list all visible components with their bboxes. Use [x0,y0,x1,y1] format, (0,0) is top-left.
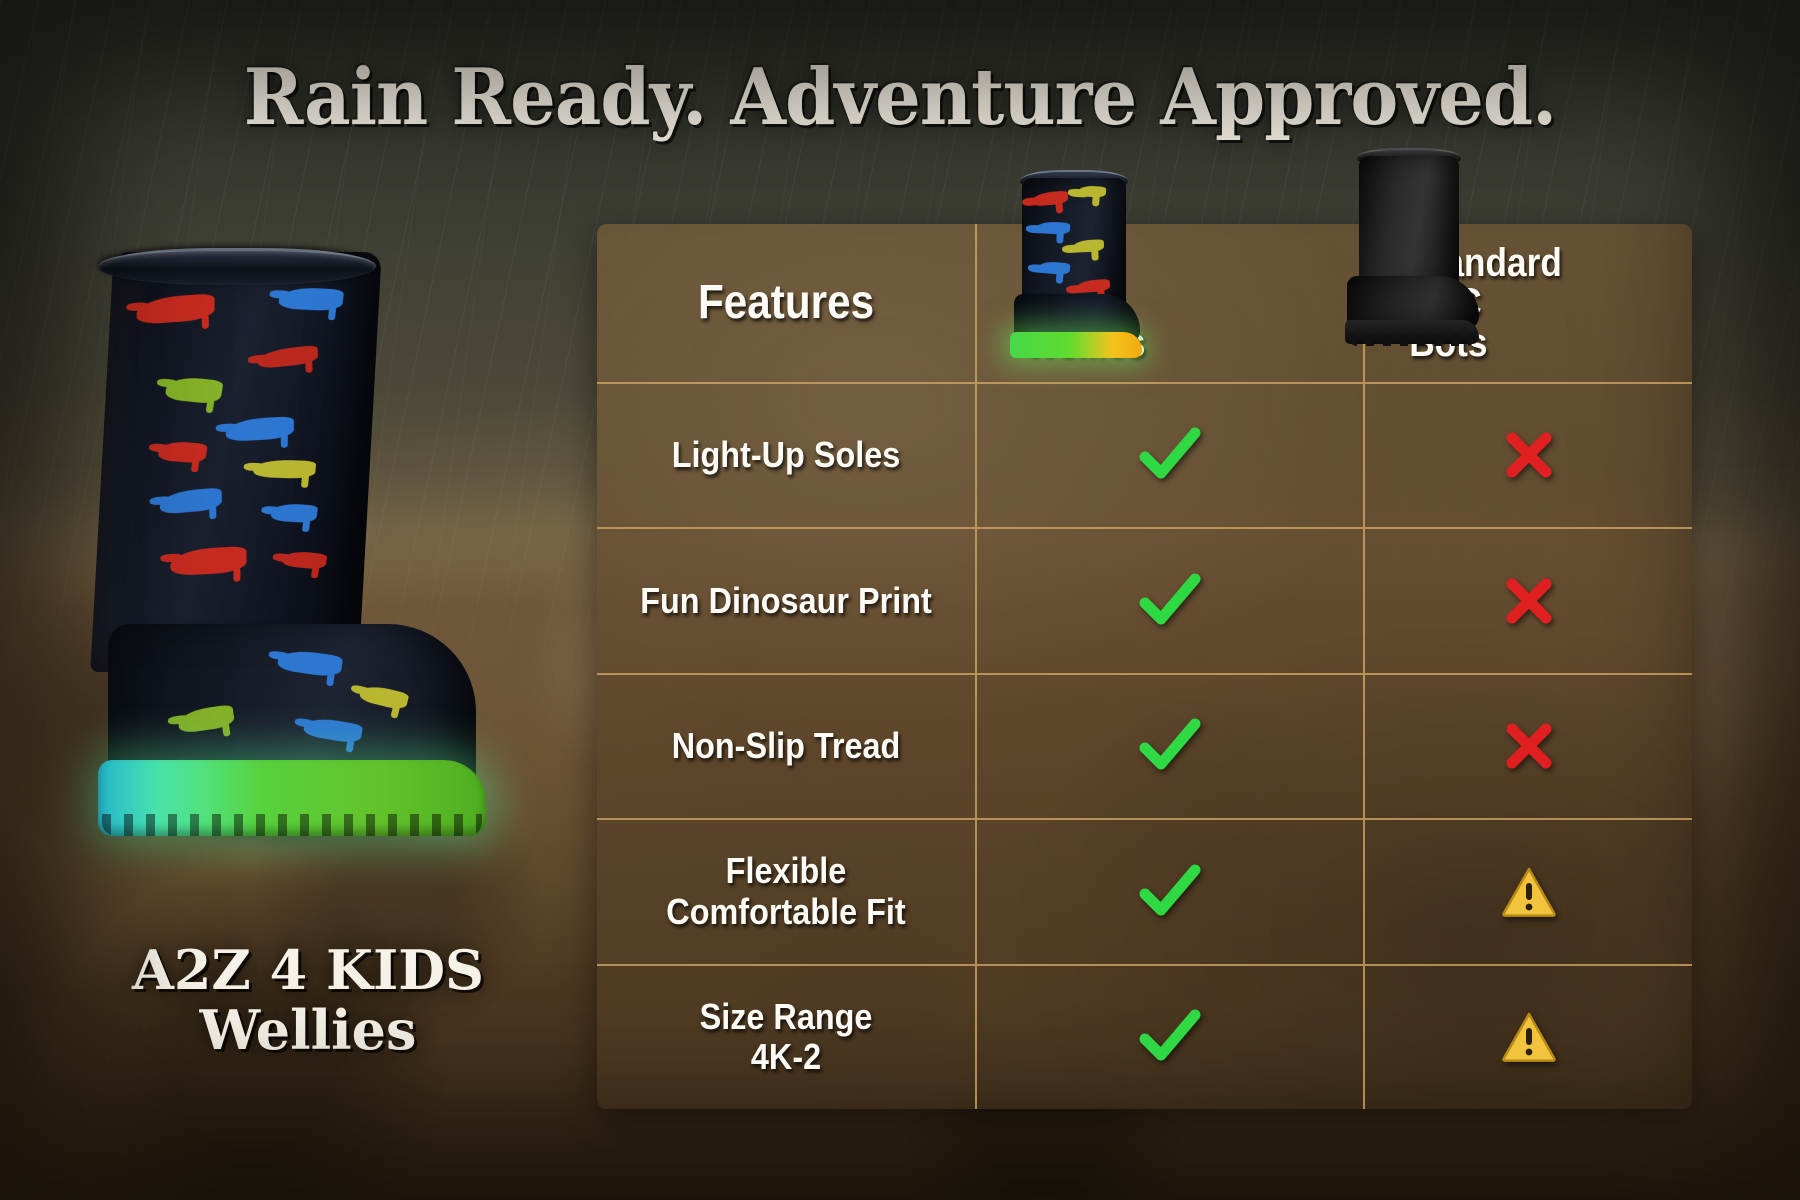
row-a2z-cell [977,529,1365,672]
hero-boot-light-up-sole [98,760,486,836]
row-feature-cell: Light-Up Soles [597,384,977,527]
dino-print-blue-6 [303,715,364,745]
a2z-boot-thumbnail [1000,172,1150,357]
feature-label: Fun Dinosaur Print [640,581,932,621]
dino-print-green-2 [177,704,236,734]
warning-icon [1501,1011,1557,1063]
check-icon [1139,1008,1201,1066]
feature-label-line-1: Non-Slip Tread [672,726,901,766]
dino-print-blue-2 [226,416,294,442]
dino-print-red-1 [136,293,214,324]
feature-label-line-1: Flexible [666,851,905,891]
pvc-thumb-tread-lugs [1349,334,1475,346]
dino-print-blue-1 [1036,221,1071,235]
table-row: Size Range 4K-2 [597,966,1692,1109]
hero-boot-shaft [90,252,381,672]
check-icon [1139,863,1201,921]
dino-print-yellow-2 [1072,239,1105,253]
dino-print-blue-2 [1038,261,1071,276]
check-icon [1139,572,1201,630]
row-a2z-cell [977,675,1365,818]
dino-print-red-3 [157,440,207,464]
table-row: Fun Dinosaur Print [597,529,1692,674]
a2z-thumb-shaft [1022,178,1126,308]
dino-print-red-5 [281,550,327,571]
row-pvc-cell [1365,384,1692,527]
pvc-thumb-shaft [1359,156,1459,288]
promo-scene: Rain Ready. Adventure Approved. A2 [0,0,1800,1200]
dino-print-red-2 [1076,279,1111,293]
check-icon [1139,426,1201,484]
feature-label-line-1: Light-Up Soles [672,435,901,475]
feature-label: Light-Up Soles [672,435,901,475]
header-label-features: Features [698,279,874,327]
page-title: Rain Ready. Adventure Approved. [72,52,1728,143]
row-a2z-cell [977,966,1365,1109]
dino-print-red-2 [257,345,318,369]
feature-label-line-2: Comfortable Fit [666,892,905,932]
cross-icon [1503,429,1555,481]
dino-print-yellow-1 [1078,185,1107,198]
row-feature-cell: Non-Slip Tread [597,675,977,818]
table-row: Non-Slip Tread [597,675,1692,820]
row-pvc-cell [1365,820,1692,963]
feature-label-line-2: 4K-2 [700,1037,873,1077]
dino-print-red-1 [1032,190,1069,206]
feature-label: Flexible Comfortable Fit [666,851,905,932]
cross-icon [1503,575,1555,627]
table-row: Flexible Comfortable Fit [597,820,1692,965]
feature-label: Size Range 4K-2 [700,997,873,1078]
feature-label-line-1: Fun Dinosaur Print [640,581,932,621]
header-cell-features: Features [597,224,977,382]
dino-print-red-4 [170,546,246,576]
feature-label-line-1: Size Range [700,997,873,1037]
row-a2z-cell [977,384,1365,527]
dino-print-blue-1 [278,286,344,311]
row-feature-cell: Fun Dinosaur Print [597,529,977,672]
row-feature-cell: Size Range 4K-2 [597,966,977,1109]
dino-print-yellow-1 [253,459,316,479]
product-caption: A2Z 4 KIDS Wellies [48,940,568,1061]
product-caption-line-2: Wellies [48,1000,568,1060]
cross-icon [1503,720,1555,772]
feature-label: Non-Slip Tread [672,726,901,766]
dino-print-green-1 [164,375,223,405]
dino-print-yellow-2 [359,682,410,711]
row-pvc-cell [1365,966,1692,1109]
a2z-thumb-light-up-sole [1010,332,1142,358]
table-row: Light-Up Soles [597,384,1692,529]
hero-product-image [72,252,492,852]
row-a2z-cell [977,820,1365,963]
pvc-boot-thumbnail [1335,148,1483,353]
row-feature-cell: Flexible Comfortable Fit [597,820,977,963]
dino-print-blue-3 [159,487,222,514]
product-caption-line-1: A2Z 4 KIDS [48,940,568,1000]
dino-print-blue-4 [270,502,318,523]
hero-boot-collar [97,248,377,285]
warning-icon [1501,866,1557,918]
row-pvc-cell [1365,675,1692,818]
check-icon [1139,717,1201,775]
row-pvc-cell [1365,529,1692,672]
dino-print-blue-5 [277,648,343,679]
